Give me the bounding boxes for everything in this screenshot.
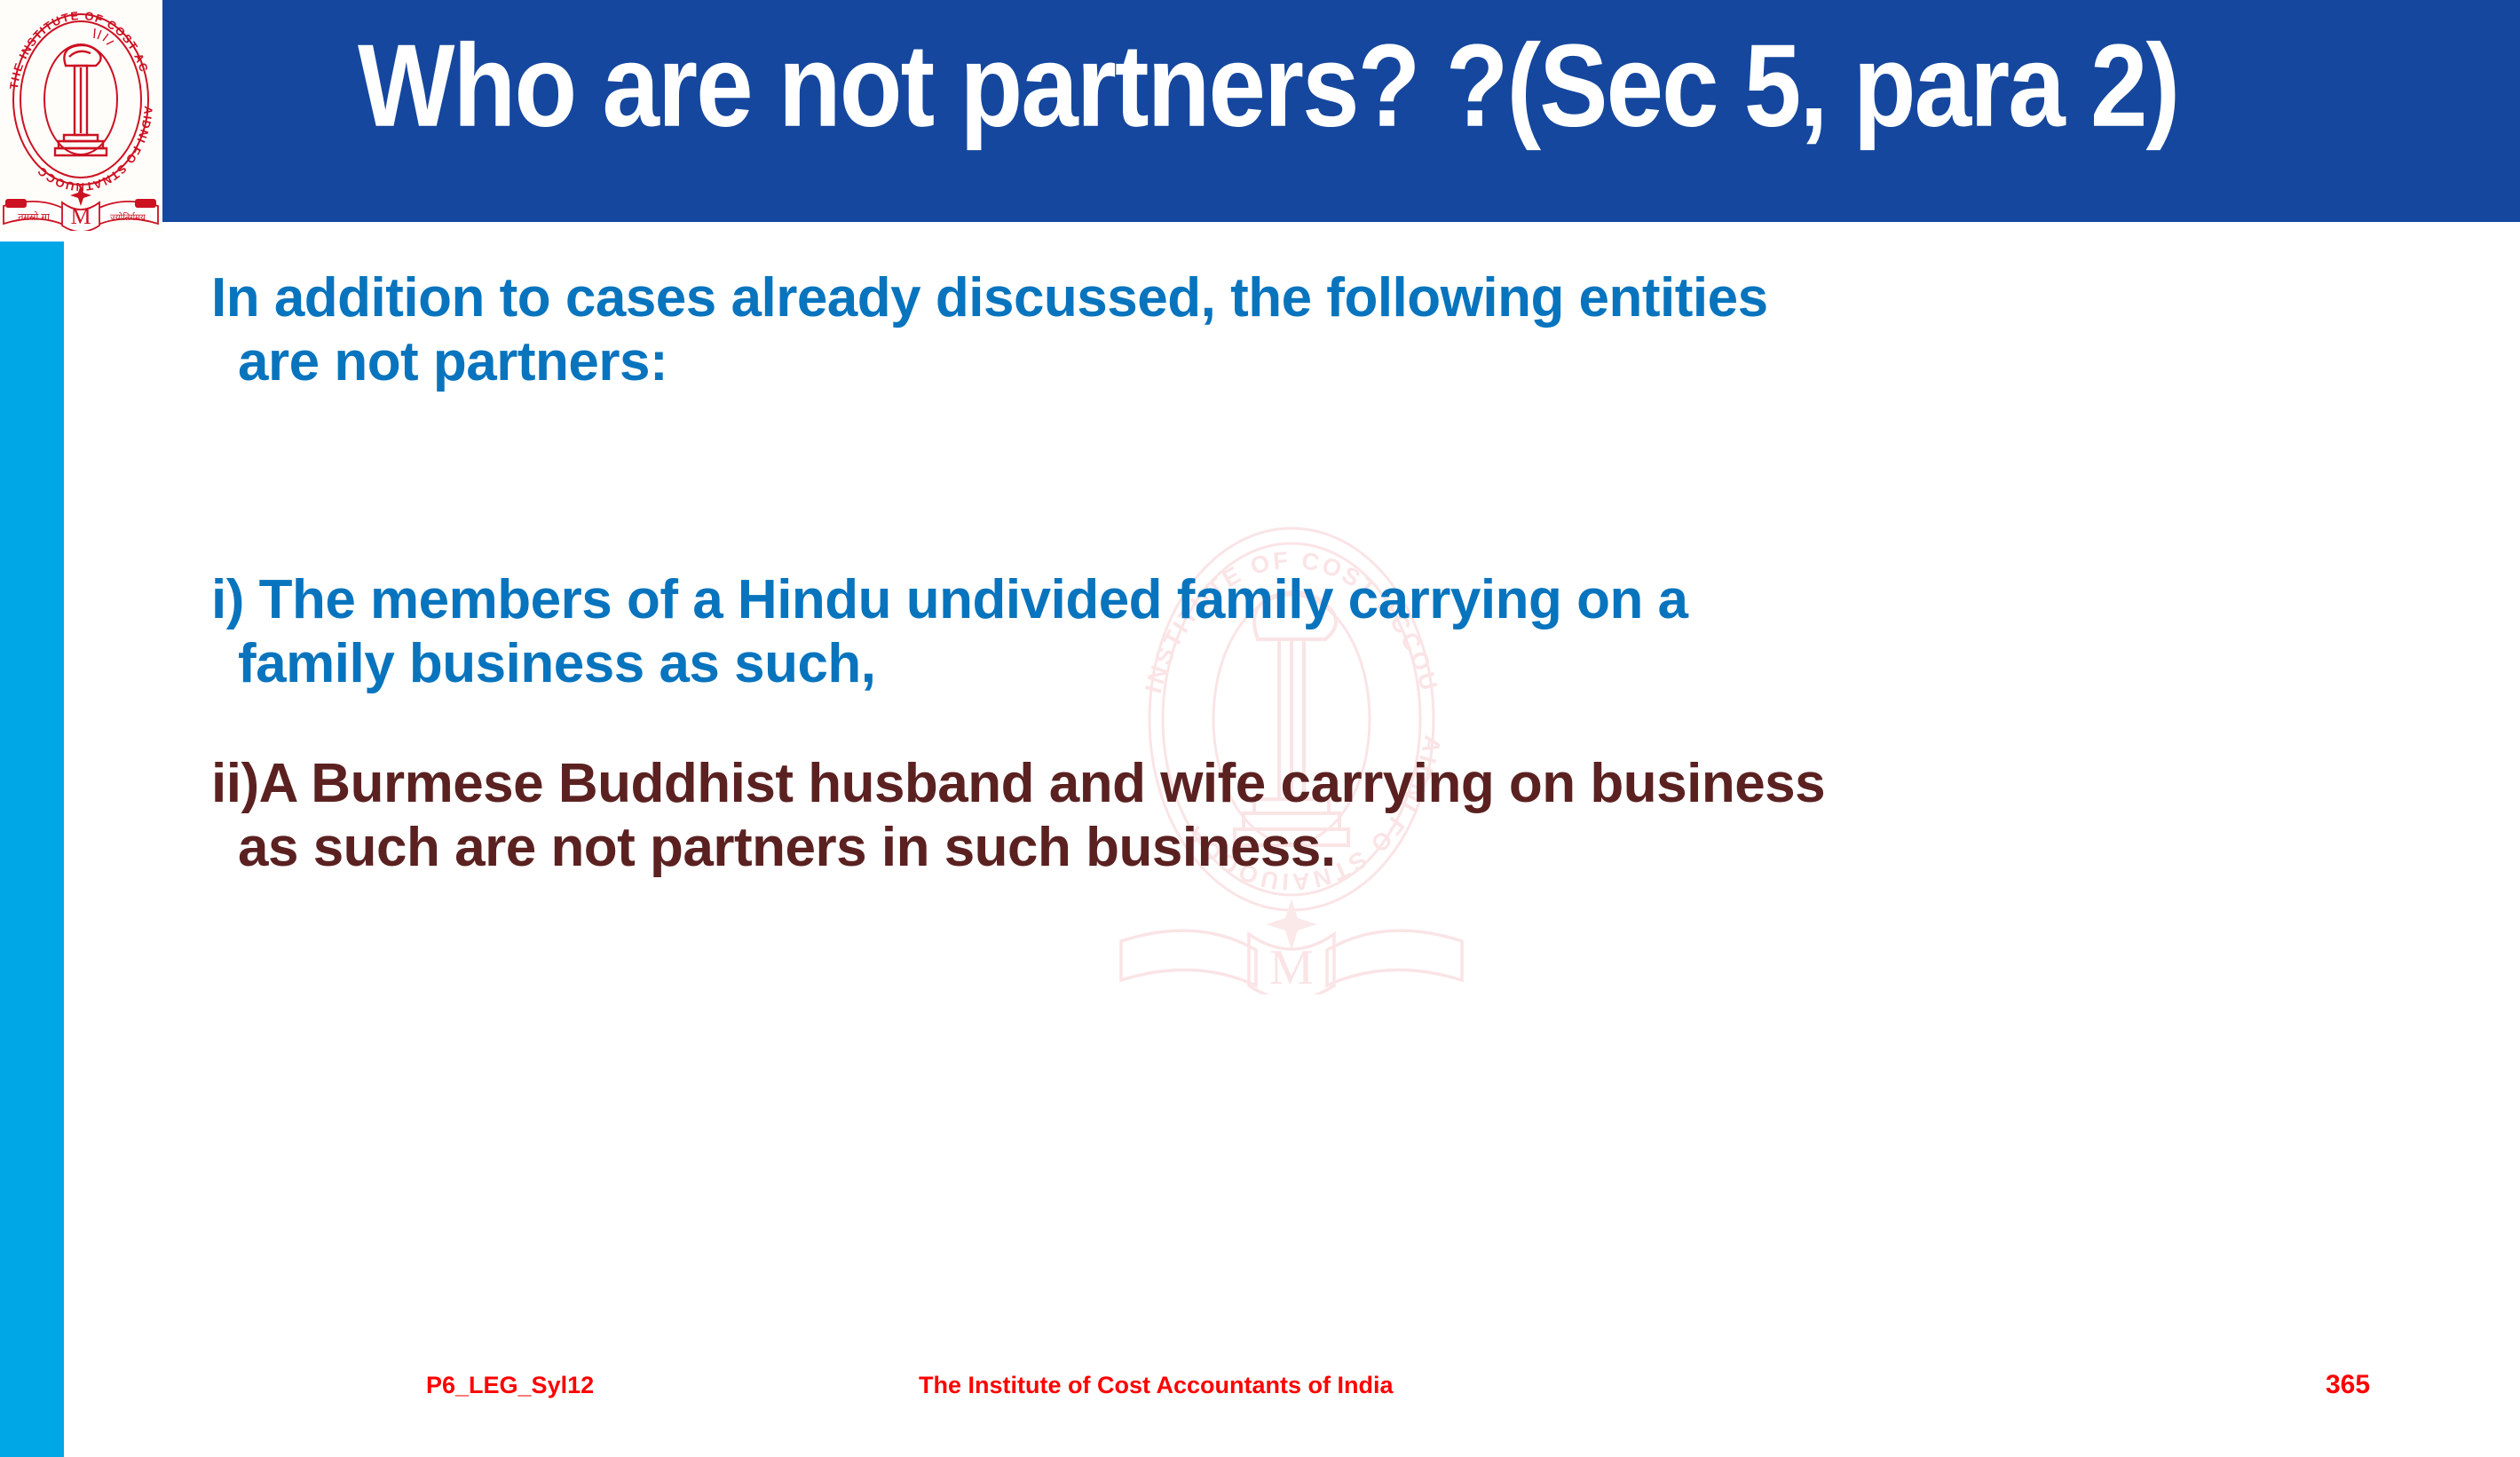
list-item-i: i) The members of a Hindu undivided fami… <box>211 568 2413 696</box>
intro-line-1: In addition to cases already discussed, … <box>211 267 1768 329</box>
page-title: Who are not partners? ?(Sec 5, para 2) <box>358 27 2520 144</box>
svg-text:THE INSTITUTE OF COST AC: THE INSTITUTE OF COST AC <box>7 9 152 91</box>
item-i-line-1: i) The members of a Hindu undivided fami… <box>211 569 1688 630</box>
left-accent-strip <box>0 242 64 1457</box>
institute-logo-icon: THE INSTITUTE OF COST AC AIDNI FO STNATN… <box>2 2 160 231</box>
logo-container: THE INSTITUTE OF COST AC AIDNI FO STNATN… <box>0 0 162 233</box>
svg-text:ज्योतिर्गमय: ज्योतिर्गमय <box>110 212 146 223</box>
slide-canvas: Who are not partners? ?(Sec 5, para 2) <box>0 0 2520 1457</box>
footer-subject-code: P6_LEG_Syl12 <box>426 1372 594 1399</box>
intro-line-2: are not partners: <box>211 330 2413 394</box>
item-ii-line-2: as such are not partners in such busines… <box>211 816 2466 880</box>
item-i-line-2: family business as such, <box>211 632 2413 696</box>
item-ii-line-1: ii)A Burmese Buddhist husband and wife c… <box>211 753 1825 814</box>
list-item-ii: ii)A Burmese Buddhist husband and wife c… <box>211 752 2466 880</box>
slide-body: In addition to cases already discussed, … <box>162 233 2520 1369</box>
intro-paragraph: In addition to cases already discussed, … <box>211 266 2413 394</box>
svg-text:तमसो मा: तमसो मा <box>18 211 50 223</box>
svg-text:M: M <box>70 203 91 229</box>
footer: P6_LEG_Syl12 The Institute of Cost Accou… <box>0 1372 2520 1416</box>
title-bar: Who are not partners? ?(Sec 5, para 2) <box>162 0 2520 222</box>
footer-institute-name: The Institute of Cost Accountants of Ind… <box>919 1372 1394 1399</box>
footer-page-number: 365 <box>2326 1370 2370 1400</box>
